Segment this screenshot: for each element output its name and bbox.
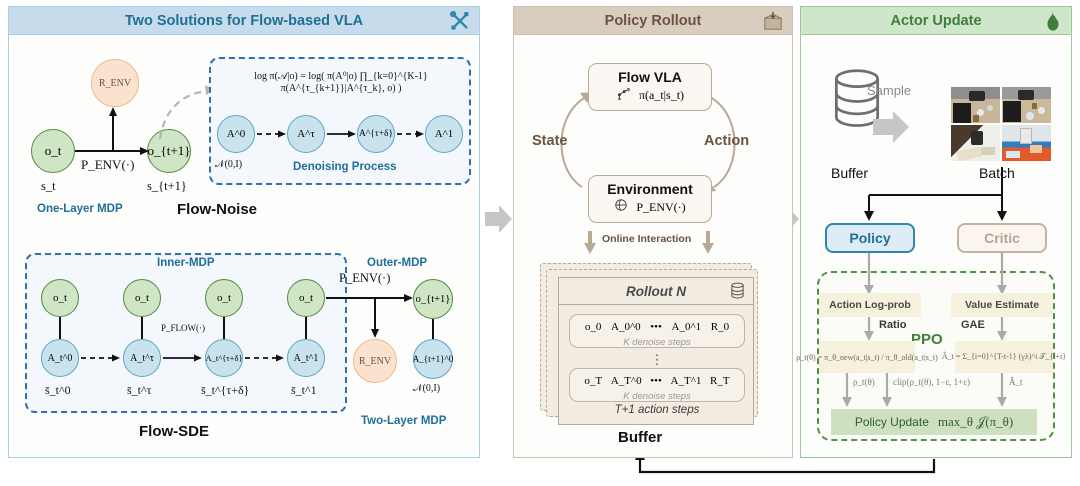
label-denoising-process: Denoising Process xyxy=(293,161,397,173)
action-logprob-box: Action Log-prob xyxy=(819,293,921,317)
label-batch: Batch xyxy=(979,165,1015,181)
logprob-formula: log π(𝒜|o) = log( π(A⁰|o) ∏_{k=0}^{K-1} … xyxy=(215,71,467,94)
rollout-title: Rollout N xyxy=(626,284,686,299)
label-ppo: PPO xyxy=(911,331,943,348)
label-bar-state-2: s̄_t^τ xyxy=(127,383,151,398)
label-buffer-right: Buffer xyxy=(831,165,868,181)
robot-arm-icon xyxy=(616,86,631,106)
label-clip: clip(ρ_t(θ), 1−ε, 1+ε) xyxy=(893,377,970,387)
rollout-row-0-a0: A_0^0 xyxy=(611,321,641,333)
rollout-row-0-obs: o_0 xyxy=(585,321,602,333)
rollout-row-1: o_T A_T^0 ••• A_T^1 R_T K denoise steps xyxy=(569,368,745,402)
flow-vla-box: Flow VLA π(a_t|s_t) xyxy=(588,63,712,111)
database-icon xyxy=(730,282,745,304)
panel-policy-rollout: Policy Rollout Flow VLA xyxy=(513,6,793,458)
label-state-t: s_t xyxy=(41,179,56,194)
right-panel-body: Sample xyxy=(801,35,1071,457)
rollout-row-0-dots: ••• xyxy=(650,321,662,333)
node-sde-reward-env: R_ENV xyxy=(353,339,397,383)
gae-formula-box: Â_t = Σ_{i=0}^{T-t-1} (γλ)^i 𝒯_{t+i} xyxy=(955,341,1053,373)
label-state-t1: s_{t+1} xyxy=(147,179,187,194)
globe-icon xyxy=(614,198,628,217)
node-sde-act-4: A_t^1 xyxy=(287,339,325,377)
label-rho: ρ_t(θ) xyxy=(853,377,875,387)
label-action: Action xyxy=(704,133,749,149)
flow-vla-formula: π(a_t|s_t) xyxy=(639,88,684,103)
mid-panel-header: Policy Rollout xyxy=(514,7,792,35)
tools-icon xyxy=(449,10,471,32)
label-buffer-mid: Buffer xyxy=(618,429,662,446)
left-panel-title: Two Solutions for Flow-based VLA xyxy=(125,13,363,29)
mid-panel-body: Flow VLA π(a_t|s_t) Environment xyxy=(514,35,792,457)
node-a0-noise: A^0 xyxy=(217,115,255,153)
node-sde-act-1: A_t^0 xyxy=(41,339,79,377)
buffer-database-icon xyxy=(829,67,885,134)
node-obs-t: o_t xyxy=(31,129,75,173)
node-a1-noise: A^1 xyxy=(425,115,463,153)
rollout-row-1-dots: ••• xyxy=(650,375,662,387)
node-sde-obs-4: o_t xyxy=(287,279,325,317)
policy-update-box: Policy Update max_θ 𝒥(π_θ) xyxy=(831,409,1037,435)
label-online-interaction: Online Interaction xyxy=(602,233,691,245)
left-panel-body: o_t o_{t+1} R_ENV P_ENV(·) s_t s_{t+1} O… xyxy=(9,35,479,457)
rollout-card: Rollout N o_0 A_0^0 ••• A_0^1 R_0 xyxy=(558,277,754,425)
rollout-row-1-obs: o_T xyxy=(584,375,602,387)
rollout-vdots: ⋮ xyxy=(559,352,755,368)
label-bar-state-4: s̄_t^1 xyxy=(291,383,317,398)
panel-two-solutions: Two Solutions for Flow-based VLA o_t o_{… xyxy=(8,6,480,458)
rollout-row-0-sub: K denoise steps xyxy=(570,337,744,348)
environment-box: Environment P_ENV(·) xyxy=(588,175,712,223)
node-reward-env-top: R_ENV xyxy=(91,59,139,107)
label-one-layer-mdp: One-Layer MDP xyxy=(37,203,123,215)
node-sde-act-3: A_t^{τ+δ} xyxy=(205,339,243,377)
node-sde-obs-2: o_t xyxy=(123,279,161,317)
node-sde-act-2: A_t^τ xyxy=(123,339,161,377)
left-panel-header: Two Solutions for Flow-based VLA xyxy=(9,7,479,35)
label-gaussian-noise: 𝒩(0,I) xyxy=(215,159,242,170)
environment-formula: P_ENV(·) xyxy=(636,200,685,215)
ratio-formula-box: ρ_t(θ) = π_θ_new(a_t|s_t) / π_θ_old(a_t|… xyxy=(819,341,915,373)
policy-objective: max_θ 𝒥(π_θ) xyxy=(938,414,1013,430)
value-estimate-box: Value Estimate xyxy=(951,293,1053,317)
rollout-row-0-reward: R_0 xyxy=(711,321,729,333)
panel-actor-update: Actor Update Sample xyxy=(800,6,1072,458)
environment-title: Environment xyxy=(607,181,693,197)
label-p-env-noise: P_ENV(·) xyxy=(81,157,134,173)
label-p-flow: P_FLOW(·) xyxy=(161,323,205,333)
node-sde-obs-3: o_t xyxy=(205,279,243,317)
package-box-icon xyxy=(762,10,784,32)
label-p-env-sde: P_ENV(·) xyxy=(339,271,390,286)
node-sde-obs-1: o_t xyxy=(41,279,79,317)
rollout-row-1-sub: K denoise steps xyxy=(570,391,744,402)
batch-thumb-1 xyxy=(951,87,1000,123)
caption-flow-sde: Flow-SDE xyxy=(139,423,209,440)
label-ratio: Ratio xyxy=(879,319,907,331)
node-sde-act-next: A_{t+1}^0 xyxy=(413,339,453,379)
right-panel-header: Actor Update xyxy=(801,7,1071,35)
caption-flow-noise: Flow-Noise xyxy=(177,201,257,218)
label-gaussian-sde: 𝒩(0,I) xyxy=(413,383,440,394)
flow-vla-title: Flow VLA xyxy=(618,69,682,85)
label-bar-state-3: s̄_t^{τ+δ} xyxy=(201,383,249,398)
node-atau-noise: A^τ xyxy=(287,115,325,153)
node-atau-delta-noise: A^{τ+δ} xyxy=(357,115,395,153)
flame-icon xyxy=(1043,10,1063,32)
label-gae: GAE xyxy=(961,319,985,331)
rollout-row-1-a0: A_T^0 xyxy=(611,375,642,387)
batch-thumb-3 xyxy=(951,125,1000,161)
mid-panel-title: Policy Rollout xyxy=(605,13,702,29)
label-two-layer-mdp: Two-Layer MDP xyxy=(361,415,446,427)
rollout-footer: T+1 action steps xyxy=(559,404,755,416)
right-panel-title: Actor Update xyxy=(890,13,981,29)
label-bar-state-1: s̄_t^0 xyxy=(45,383,71,398)
label-advantage: Â_t xyxy=(1009,377,1023,387)
label-sample: Sample xyxy=(867,83,911,98)
node-obs-t1: o_{t+1} xyxy=(147,129,191,173)
node-sde-obs-next: o_{t+1} xyxy=(413,279,453,319)
label-state: State xyxy=(532,133,567,149)
policy-update-label: Policy Update xyxy=(855,415,929,429)
rollout-row-1-a1: A_T^1 xyxy=(671,375,702,387)
label-inner-mdp: Inner-MDP xyxy=(157,257,215,269)
batch-thumb-4 xyxy=(1002,125,1051,161)
batch-thumbnails xyxy=(951,87,1051,161)
critic-button[interactable]: Critic xyxy=(957,223,1047,253)
label-outer-mdp: Outer-MDP xyxy=(367,257,427,269)
rollout-row-0: o_0 A_0^0 ••• A_0^1 R_0 K denoise steps xyxy=(569,314,745,348)
policy-button[interactable]: Policy xyxy=(825,223,915,253)
rollout-row-0-a1: A_0^1 xyxy=(672,321,702,333)
rollout-row-1-reward: R_T xyxy=(710,375,730,387)
batch-thumb-2 xyxy=(1002,87,1051,123)
